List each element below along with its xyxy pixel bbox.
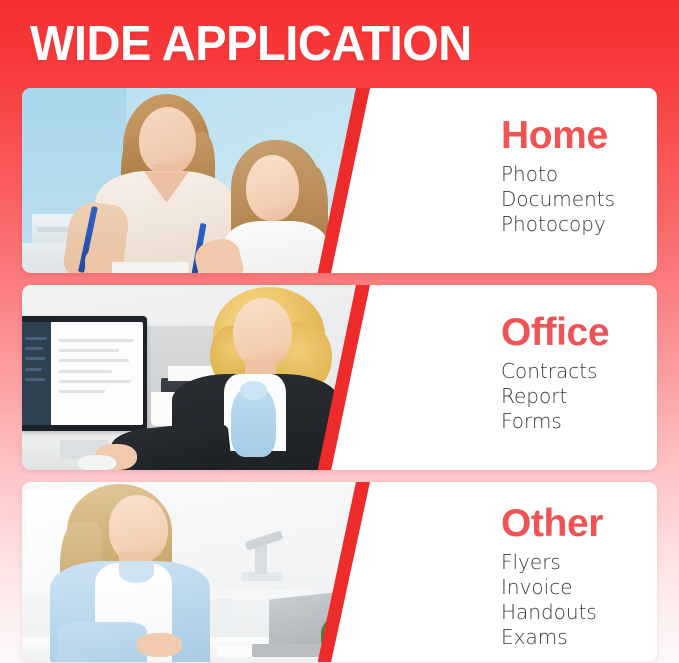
card-heading-home: Home <box>501 114 615 158</box>
other-panel-inner: Other Flyers Invoice Handouts Exams <box>501 502 603 650</box>
application-card-home[interactable]: Home Photo Documents Photocopy <box>22 88 657 273</box>
list-item: Contracts <box>501 359 609 384</box>
woman-hands <box>137 633 182 656</box>
list-item: Flyers <box>501 550 603 575</box>
lab-scene-artwork <box>22 482 370 662</box>
screen-text-line <box>59 370 112 373</box>
sidebar-line <box>25 368 41 371</box>
wide-application-poster: WIDE APPLICATION <box>0 0 679 663</box>
list-item: Invoice <box>501 575 603 600</box>
child-head <box>246 155 298 222</box>
sidebar-line <box>25 337 47 340</box>
screen-text-line <box>59 359 129 362</box>
list-item: Handouts <box>501 600 603 625</box>
list-item: Exams <box>501 625 603 650</box>
sidebar-line <box>25 378 45 381</box>
home-panel-inner: Home Photo Documents Photocopy <box>501 114 615 237</box>
computer-mouse <box>78 455 116 470</box>
screen-text-line <box>59 390 105 393</box>
office-text-panel: Office Contracts Report Forms <box>375 285 657 470</box>
office-scene-artwork <box>22 285 370 470</box>
computer-monitor <box>22 316 147 431</box>
office-panel-inner: Office Contracts Report Forms <box>501 311 609 434</box>
other-text-panel: Other Flyers Invoice Handouts Exams <box>375 482 657 662</box>
woman-head <box>233 298 292 368</box>
list-item: Report <box>501 384 609 409</box>
list-item: Forms <box>501 409 609 434</box>
list-item: Photocopy <box>501 212 615 237</box>
list-item: Photo <box>501 162 615 187</box>
office-feature-list: Contracts Report Forms <box>501 359 609 434</box>
woman-scarf-knot <box>240 381 268 400</box>
paper-sheet <box>112 262 189 273</box>
application-card-office[interactable]: Office Contracts Report Forms <box>22 285 657 470</box>
list-item: Documents <box>501 187 615 212</box>
screen-text-line <box>59 349 120 352</box>
card-heading-other: Other <box>501 502 603 546</box>
poster-title-wrap: WIDE APPLICATION <box>30 14 650 76</box>
sidebar-line <box>25 357 45 360</box>
laptop-base <box>252 644 363 657</box>
screen-text-line <box>59 339 134 342</box>
home-scene-artwork <box>22 88 370 273</box>
office-worker-photo <box>22 285 370 470</box>
screen-text-line <box>59 380 132 383</box>
home-text-panel: Home Photo Documents Photocopy <box>375 88 657 273</box>
plant-pot <box>328 646 359 660</box>
woman-collar <box>119 561 154 583</box>
woman-arm <box>57 622 147 662</box>
card-heading-office: Office <box>501 311 609 355</box>
monitor-screen <box>22 322 143 425</box>
sidebar-line <box>25 347 43 350</box>
lab-laptop-photo <box>22 482 370 662</box>
other-feature-list: Flyers Invoice Handouts Exams <box>501 550 603 650</box>
application-card-other[interactable]: Other Flyers Invoice Handouts Exams <box>22 482 657 662</box>
laptop-screen <box>269 591 353 650</box>
home-tutoring-photo <box>22 88 370 273</box>
screen-sidebar <box>22 322 51 425</box>
page-title: WIDE APPLICATION <box>30 14 625 74</box>
home-feature-list: Photo Documents Photocopy <box>501 162 615 237</box>
application-card-list: Home Photo Documents Photocopy <box>22 88 657 663</box>
